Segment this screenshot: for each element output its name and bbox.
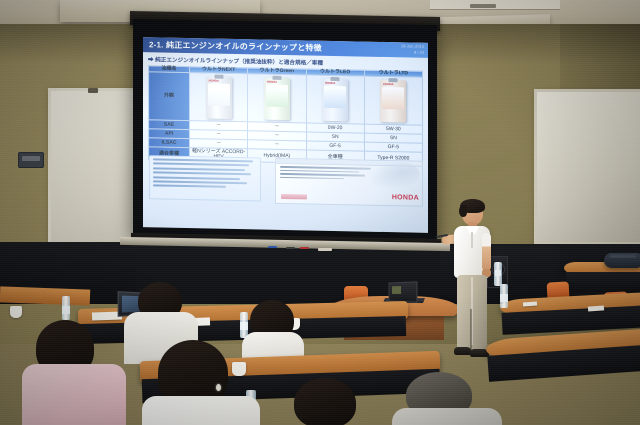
- brand-mark: HONDA: [267, 81, 277, 84]
- ceiling-vent: [470, 4, 496, 8]
- eraser[interactable]: [318, 248, 332, 251]
- pet-bottle-water[interactable]: [500, 284, 508, 308]
- oil-lineup-table: 油種名 ウルトラNEXT ウルトラGreen ウルトラLEO ウルトラLTD 外…: [148, 65, 423, 166]
- paper-cup[interactable]: [10, 306, 22, 318]
- product-image-ltd: HONDA: [364, 76, 422, 125]
- product-image-leo: HONDA: [306, 75, 364, 124]
- web-text-line: [280, 173, 365, 176]
- bottle-label: [266, 85, 288, 107]
- note-line: [153, 163, 249, 167]
- attendee-torso: [392, 408, 502, 425]
- dark-bag[interactable]: [604, 253, 640, 268]
- projector-screen: 2-1. 純正エンジンオイルのラインナップと特徴 19-JUL-2013 9 /…: [133, 19, 437, 243]
- desk-left: [0, 286, 90, 305]
- brand-mark: HONDA: [209, 80, 219, 83]
- table-row: 外観 HONDA HONDA: [149, 72, 423, 126]
- note-line: [153, 185, 226, 188]
- marker-red[interactable]: [300, 247, 309, 249]
- oil-can-green: HONDA: [264, 78, 290, 121]
- wall-outlet-plate[interactable]: [18, 152, 44, 168]
- desk-far-right-front: [566, 272, 640, 292]
- bottle-label: [208, 84, 230, 106]
- web-cta-button[interactable]: [281, 194, 307, 200]
- brand-mark: HONDA: [383, 83, 393, 86]
- note-line: [153, 180, 247, 184]
- attendee-torso: [142, 396, 260, 425]
- note-line: [153, 172, 251, 176]
- product-image-next: HONDA: [190, 73, 248, 122]
- slide-meta: 19-JUL-2013 9 / 23: [401, 43, 424, 54]
- presenter-leg-gap: [470, 309, 472, 349]
- honda-logo: HONDA: [392, 194, 419, 202]
- oil-can-leo: HONDA: [322, 79, 348, 122]
- whiteboard-right: [534, 89, 640, 245]
- slide-note-block: [149, 155, 261, 201]
- attendee-front-center: [288, 378, 374, 425]
- note-line: [153, 167, 245, 171]
- presentation-slide: 2-1. 純正エンジンオイルのラインナップと特徴 19-JUL-2013 9 /…: [143, 37, 428, 233]
- pet-bottle-water[interactable]: [62, 296, 70, 320]
- web-text-line: [280, 177, 344, 180]
- bottle-label: [382, 87, 404, 109]
- whiteboard-clip: [88, 88, 98, 93]
- marker-blue[interactable]: [268, 246, 277, 248]
- product-image-green: HONDA: [248, 74, 306, 123]
- bottle-label: [324, 86, 346, 108]
- attendee-mid-right: [246, 300, 300, 360]
- web-text-line: [280, 166, 371, 169]
- presenter-placket: [471, 232, 473, 248]
- slide-page-number: 9 / 23: [401, 49, 424, 55]
- attendee-torso: [22, 364, 126, 425]
- presenter-hair-side: [459, 205, 467, 217]
- attendee-front-left: [22, 320, 108, 425]
- podium-laptop-screen[interactable]: [389, 281, 418, 302]
- attendee-front-right: [398, 372, 494, 425]
- oil-can-next: HONDA: [206, 77, 232, 120]
- honda-website-screenshot: HONDA: [275, 158, 423, 207]
- presenter-right-arm: [482, 233, 491, 271]
- slide-date: 19-JUL-2013: [401, 43, 424, 49]
- lecture-hall-scene: 2-1. 純正エンジンオイルのラインナップと特徴 19-JUL-2013 9 /…: [0, 0, 640, 425]
- oil-can-ltd: HONDA: [380, 80, 406, 123]
- brand-mark: HONDA: [325, 82, 335, 85]
- attendee-center: [148, 340, 252, 425]
- note-line: [153, 176, 240, 180]
- web-text-line: [280, 169, 359, 172]
- marker-black[interactable]: [286, 247, 295, 249]
- attendee-hair: [294, 378, 356, 425]
- earring: [216, 384, 221, 391]
- slide-title: 2-1. 純正エンジンオイルのラインナップと特徴: [143, 37, 428, 58]
- table-row-header-appearance: 外観: [149, 72, 190, 121]
- note-line: [153, 158, 253, 162]
